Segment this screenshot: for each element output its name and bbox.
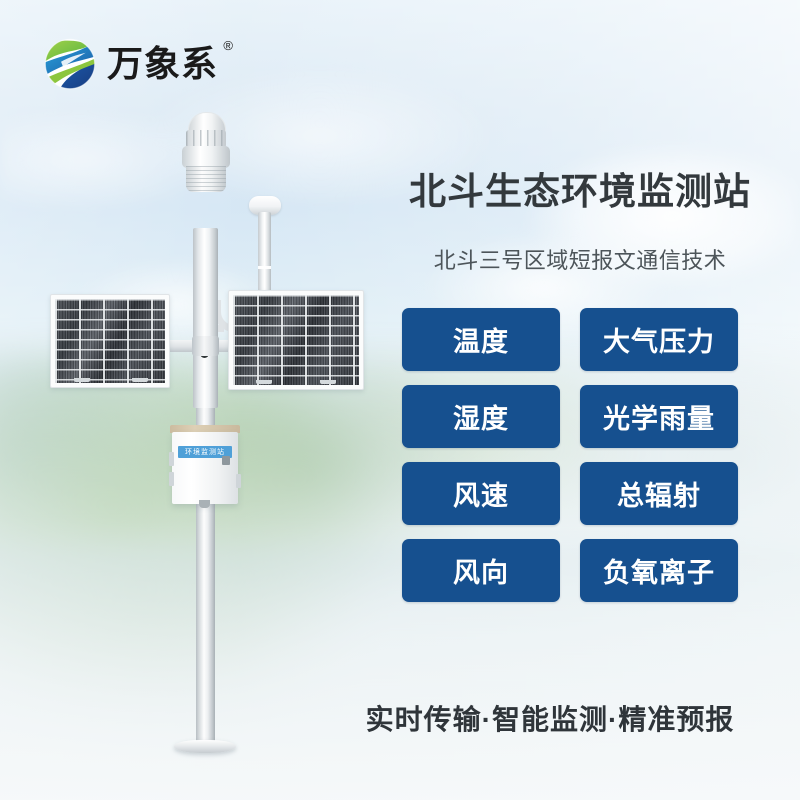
- solar-panel-hub: [192, 336, 219, 356]
- trademark-icon: ®: [223, 39, 234, 52]
- page-title: 北斗生态环境监测站: [390, 172, 770, 213]
- base-plate: [174, 740, 236, 753]
- control-cabinet-hinge: [169, 472, 174, 486]
- feature-tag[interactable]: 负氧离子: [580, 539, 738, 602]
- brand-name-text: 万象系: [107, 43, 218, 84]
- feature-tag[interactable]: 大气压力: [580, 308, 738, 371]
- footer-slogan: 实时传输·智能监测·精准预报: [340, 698, 760, 738]
- brand-name: 万象系 ®: [107, 46, 218, 82]
- solar-panel-right: [228, 290, 364, 390]
- feature-tag[interactable]: 温度: [402, 308, 560, 371]
- globe-swirl-logo-icon: [42, 36, 98, 92]
- feature-tag[interactable]: 风向: [402, 539, 560, 602]
- solar-panel-cells: [233, 295, 359, 385]
- control-cabinet: [172, 432, 238, 504]
- feature-tag-grid: 温度 大气压力 湿度 光学雨量 风速 总辐射 风向 负氧离子: [402, 308, 738, 602]
- support-mast-upper: [193, 228, 218, 408]
- solar-panel-left-foot: [132, 378, 148, 382]
- feature-tag[interactable]: 光学雨量: [580, 385, 738, 448]
- weather-station-device: 环境监测站: [0, 0, 400, 800]
- page-subtitle: 北斗三号区域短报文通信技术: [390, 248, 770, 274]
- brand-logo: 万象系 ®: [42, 36, 218, 92]
- feature-tag[interactable]: 总辐射: [580, 462, 738, 525]
- sensor-arm-joint-ring: [258, 266, 271, 269]
- control-cabinet-cable-gland: [199, 500, 210, 508]
- solar-panel-right-foot: [256, 380, 272, 384]
- control-cabinet-latch: [236, 474, 241, 488]
- solar-panel-left: [50, 294, 170, 388]
- solar-panel-left-foot: [74, 378, 90, 382]
- control-cabinet-hinge: [169, 452, 174, 466]
- ultrasonic-wind-sensor-body: [182, 146, 230, 168]
- poster-canvas: 环境监测站: [0, 0, 800, 800]
- radiation-shield: [186, 166, 226, 192]
- feature-tag[interactable]: 风速: [402, 462, 560, 525]
- solar-panel-right-foot: [320, 380, 336, 384]
- solar-panel-cells: [55, 299, 165, 383]
- control-cabinet-vent-icon: [222, 456, 230, 465]
- feature-tag[interactable]: 湿度: [402, 385, 560, 448]
